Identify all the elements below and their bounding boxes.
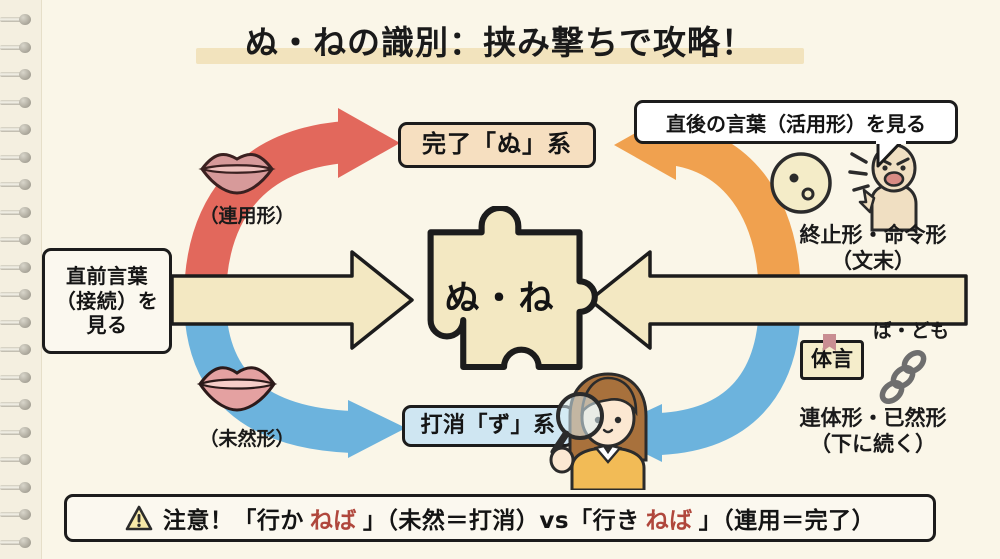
spiral-ring — [0, 207, 34, 218]
spiral-ring-knob — [19, 482, 31, 493]
spiral-ring — [0, 97, 34, 108]
notebook-spiral-binding — [0, 0, 42, 559]
label-shushi-meirei-main: 終止形・命令形 — [760, 222, 986, 248]
spiral-ring — [0, 234, 34, 245]
node-next-word-label: 直後の言葉（活用形）を見る — [666, 108, 926, 137]
spiral-ring — [0, 317, 34, 328]
speech-bubble-tail — [876, 140, 916, 170]
spiral-ring — [0, 427, 34, 438]
node-previous-word[interactable]: 直前言葉 （接続）を 見る — [42, 248, 172, 354]
caution-text-part2: 」（未然＝打消）vs「行き — [363, 501, 640, 535]
caution-text-part1: 注意！「行か — [163, 501, 304, 535]
caution-text-part3: 」（連用＝完了） — [699, 501, 876, 535]
spiral-ring-knob — [19, 344, 31, 355]
spiral-ring-knob — [19, 262, 31, 273]
spiral-ring — [0, 69, 34, 80]
spiral-ring — [0, 289, 34, 300]
warning-triangle-icon — [125, 505, 153, 531]
spiral-ring-knob — [19, 234, 31, 245]
spiral-ring — [0, 42, 34, 53]
spiral-ring — [0, 14, 34, 25]
node-previous-word-line3: 見る — [87, 313, 128, 337]
lips-icon — [196, 358, 278, 414]
caution-highlight-2: ねば — [646, 501, 693, 535]
node-kanryo-nu[interactable]: 完了「ぬ」系 — [398, 122, 596, 168]
spiral-ring — [0, 372, 34, 383]
label-shushi-meirei: 終止形・命令形 （文末） — [760, 222, 986, 275]
puzzle-center-label: ぬ・ね — [392, 270, 608, 321]
caution-highlight-1: ねば — [310, 501, 357, 535]
node-previous-word-line1: 直前言葉 — [66, 264, 148, 288]
spiral-ring-knob — [19, 42, 31, 53]
node-kanryo-label: 完了「ぬ」系 — [422, 130, 572, 159]
label-rentai-izen-sub: （下に続く） — [760, 431, 986, 457]
spiral-ring — [0, 179, 34, 190]
node-previous-word-line2: （接続）を — [56, 289, 159, 313]
spiral-ring-knob — [19, 124, 31, 135]
chain-link-icon — [878, 348, 932, 408]
label-renyoukei: （連用形） — [182, 205, 312, 229]
spiral-ring — [0, 262, 34, 273]
label-ba-domo: ば・ども — [856, 320, 966, 344]
spiral-ring-knob — [19, 152, 31, 163]
diagram-canvas: ぬ・ね ぬ・ねの識別：挟み撃ちで攻略！ 完了「ぬ」系 打消「ず」系 直前言葉 （… — [0, 0, 1000, 559]
spiral-ring-knob — [19, 454, 31, 465]
label-shushi-meirei-sub: （文末） — [760, 248, 986, 274]
spiral-ring-knob — [19, 97, 31, 108]
spiral-ring-knob — [19, 179, 31, 190]
caution-bar: 注意！「行か ねば 」（未然＝打消）vs「行き ねば 」（連用＝完了） — [64, 494, 936, 542]
page-title: ぬ・ねの識別：挟み撃ちで攻略！ — [0, 16, 1000, 64]
spiral-ring-knob — [19, 207, 31, 218]
lips-icon — [198, 145, 276, 197]
spiral-ring — [0, 509, 34, 520]
spiral-ring — [0, 482, 34, 493]
girl-with-magnifier-icon — [548, 368, 660, 490]
page-title-wrap: ぬ・ねの識別：挟み撃ちで攻略！ — [0, 16, 1000, 64]
spiral-ring-knob — [19, 317, 31, 328]
node-uchikeshi-label: 打消「ず」系 — [420, 413, 555, 440]
spiral-ring-knob — [19, 69, 31, 80]
node-taigen-label: 体言 — [811, 347, 853, 373]
spiral-ring — [0, 344, 34, 355]
spiral-ring-knob — [19, 372, 31, 383]
spiral-ring — [0, 399, 34, 410]
spiral-ring — [0, 124, 34, 135]
circle-period-icon — [768, 150, 834, 216]
spiral-ring-knob — [19, 509, 31, 520]
label-rentai-izen-main: 連体形・已然形 — [760, 405, 986, 431]
label-mizenkei: （未然形） — [182, 428, 312, 452]
node-next-word-bubble[interactable]: 直後の言葉（活用形）を見る — [634, 100, 958, 144]
spiral-ring — [0, 152, 34, 163]
spiral-ring — [0, 454, 34, 465]
spiral-ring-knob — [19, 399, 31, 410]
label-rentai-izen: 連体形・已然形 （下に続く） — [760, 405, 986, 458]
spiral-ring-knob — [19, 289, 31, 300]
spiral-ring-knob — [19, 537, 31, 548]
spiral-ring-knob — [19, 427, 31, 438]
spiral-ring — [0, 537, 34, 548]
spiral-ring-knob — [19, 14, 31, 25]
